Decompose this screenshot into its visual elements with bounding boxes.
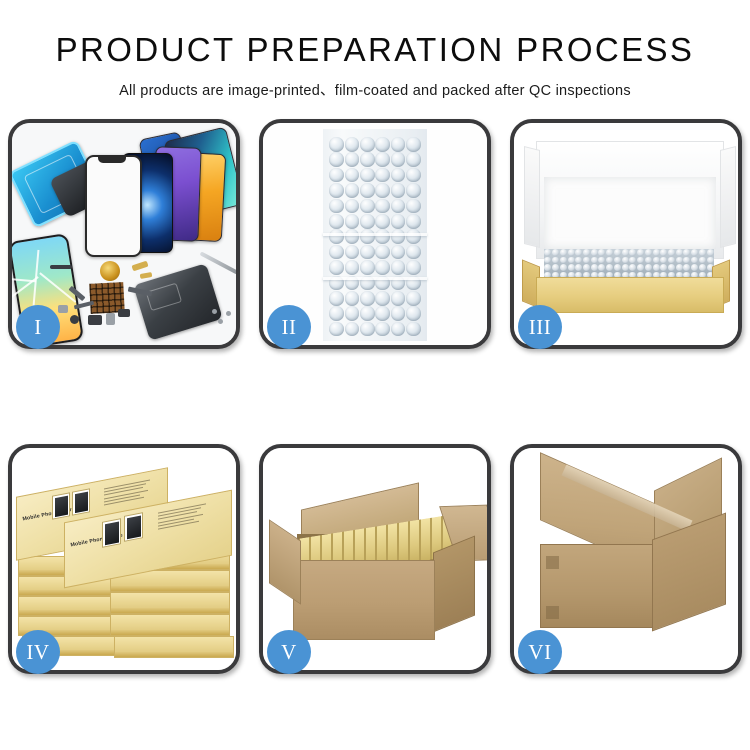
bubble (391, 214, 406, 229)
step-badge-1: I (16, 305, 60, 349)
screw-part (212, 309, 217, 314)
bubble (406, 137, 421, 152)
bubble (544, 249, 551, 256)
bubble (583, 249, 590, 256)
carton-side-wall (433, 535, 475, 632)
bubble (606, 249, 613, 256)
bubble (575, 257, 582, 264)
bubble (391, 229, 406, 244)
bubble (391, 245, 406, 260)
bubble (699, 249, 706, 256)
bubble (683, 257, 690, 264)
bubble (375, 229, 390, 244)
small-part (118, 309, 130, 317)
small-part (50, 265, 72, 269)
bubble (360, 183, 375, 198)
bubble (691, 257, 698, 264)
foam-sheet (544, 177, 716, 249)
bubble (591, 257, 598, 264)
bubble (345, 260, 360, 275)
bubble (406, 322, 421, 337)
bubble (598, 257, 605, 264)
bubble (598, 249, 605, 256)
bubble (568, 249, 575, 256)
bubble (614, 264, 621, 271)
bubble (360, 152, 375, 167)
bubble (560, 249, 567, 256)
bubble (568, 257, 575, 264)
page-header: PRODUCT PREPARATION PROCESS All products… (0, 0, 750, 100)
page-subtitle: All products are image-printed、film-coat… (0, 79, 750, 100)
bubble (329, 199, 344, 214)
box-front-wall (536, 277, 724, 313)
bubble (676, 249, 683, 256)
stacked-box (110, 614, 230, 636)
page-title: PRODUCT PREPARATION PROCESS (0, 33, 750, 68)
small-part (70, 315, 79, 324)
bubble (552, 249, 559, 256)
bubble (329, 152, 344, 167)
bubble (345, 137, 360, 152)
bubble (360, 229, 375, 244)
bubble (406, 199, 421, 214)
bubble (391, 152, 406, 167)
step-badge-3: III (518, 305, 562, 349)
small-part (140, 272, 153, 279)
carton-tab (546, 556, 559, 569)
process-step-2: II (259, 119, 491, 349)
bubble (360, 291, 375, 306)
bubble (375, 291, 390, 306)
bubble (552, 264, 559, 271)
screw-part (218, 319, 223, 324)
bubble (544, 257, 551, 264)
step-badge-4: IV (16, 630, 60, 674)
process-step-grid: I II III (5, 119, 745, 674)
process-step-4: Mobile Phone Spare Parts Mobile Phone Sp… (8, 444, 240, 674)
box-phone-graphic (72, 488, 90, 515)
bubble (329, 229, 344, 244)
bubble (329, 322, 344, 337)
bubble (406, 245, 421, 260)
bubble (360, 260, 375, 275)
bubble (653, 249, 660, 256)
bubble (629, 249, 636, 256)
bubble (560, 264, 567, 271)
bubble (345, 229, 360, 244)
bubble (614, 257, 621, 264)
bubble (360, 322, 375, 337)
bubble (406, 260, 421, 275)
bubble (375, 199, 390, 214)
bubble (375, 306, 390, 321)
bubble (406, 183, 421, 198)
step-badge-5: V (267, 630, 311, 674)
bubble (406, 306, 421, 321)
bubble (622, 257, 629, 264)
small-part (58, 305, 68, 313)
carton-tab (546, 606, 559, 619)
bubble (583, 264, 590, 271)
bubble (329, 214, 344, 229)
bubble (345, 306, 360, 321)
bubble (375, 183, 390, 198)
bubble (568, 264, 575, 271)
bubble (598, 264, 605, 271)
bubble (691, 249, 698, 256)
bubble (360, 245, 375, 260)
charging-coil-part (100, 261, 120, 281)
bubble (375, 152, 390, 167)
step-badge-6: VI (518, 630, 562, 674)
bubble-grid (329, 137, 421, 335)
step-badge-2: II (267, 305, 311, 349)
bubble (645, 249, 652, 256)
bubble (606, 257, 613, 264)
process-step-5: V (259, 444, 491, 674)
bubble (360, 137, 375, 152)
bubble (345, 245, 360, 260)
bubble (406, 291, 421, 306)
bubble (668, 264, 675, 271)
bubble (345, 168, 360, 183)
bubble (622, 264, 629, 271)
bubble (668, 257, 675, 264)
bubble (575, 264, 582, 271)
bubble (637, 249, 644, 256)
bubble (375, 260, 390, 275)
bubble (575, 249, 582, 256)
bubble (360, 199, 375, 214)
bubble (606, 264, 613, 271)
bubble (583, 257, 590, 264)
bubble (683, 249, 690, 256)
bubble (406, 168, 421, 183)
bubble (329, 137, 344, 152)
bubble (360, 214, 375, 229)
bubble (645, 257, 652, 264)
stacked-box (114, 636, 234, 658)
bubble (653, 257, 660, 264)
bubble (660, 257, 667, 264)
bubble (345, 214, 360, 229)
wrapped-contents (544, 249, 714, 279)
bubble (683, 264, 690, 271)
front-glass-panel (85, 155, 142, 257)
wrap-seam (323, 277, 427, 280)
bubble (614, 249, 621, 256)
bubble-wrap-strip (323, 129, 427, 341)
box-phone-graphic (52, 492, 70, 519)
bubble (629, 264, 636, 271)
bubble (676, 264, 683, 271)
process-step-1: I (8, 119, 240, 349)
bubble (360, 306, 375, 321)
bubble (707, 249, 714, 256)
bubble (707, 257, 714, 264)
bubble (329, 291, 344, 306)
bubble (329, 245, 344, 260)
bubble (329, 183, 344, 198)
crack-line (12, 277, 36, 282)
bubble (375, 322, 390, 337)
packed-box (420, 517, 431, 561)
bubble (391, 137, 406, 152)
bubble (691, 264, 698, 271)
bubble (591, 249, 598, 256)
bubble (660, 249, 667, 256)
wrap-seam (323, 233, 427, 236)
bubble (676, 257, 683, 264)
bubble (552, 257, 559, 264)
bubble (645, 264, 652, 271)
bubble (391, 183, 406, 198)
bubble (406, 214, 421, 229)
small-part (106, 313, 115, 325)
bubble (375, 137, 390, 152)
box-phone-graphic (124, 512, 143, 542)
bubble (391, 291, 406, 306)
bubble (391, 199, 406, 214)
bubble (329, 260, 344, 275)
process-step-3: III (510, 119, 742, 349)
bubble (345, 152, 360, 167)
bubble (622, 249, 629, 256)
bubble (699, 257, 706, 264)
bubble (391, 322, 406, 337)
bubble (591, 264, 598, 271)
carton-left-flap (269, 519, 301, 605)
bubble (544, 264, 551, 271)
bubble (560, 257, 567, 264)
small-part (131, 260, 148, 271)
stacked-box (18, 596, 112, 616)
bubble (406, 152, 421, 167)
bubble (391, 260, 406, 275)
stacked-box (110, 592, 230, 614)
bubble (391, 306, 406, 321)
bubble (375, 245, 390, 260)
box-phone-graphic (102, 518, 121, 548)
bubble (406, 229, 421, 244)
carton-front-wall (293, 560, 435, 640)
bubble (653, 264, 660, 271)
bubble (345, 322, 360, 337)
bubble (329, 168, 344, 183)
process-step-6: VI (510, 444, 742, 674)
bubble (360, 168, 375, 183)
bubble (345, 199, 360, 214)
bubble (637, 257, 644, 264)
bubble (375, 168, 390, 183)
bubble (660, 264, 667, 271)
bubble (637, 264, 644, 271)
bubble (391, 168, 406, 183)
screw-part (226, 311, 231, 316)
small-part (88, 315, 102, 325)
bubble (329, 306, 344, 321)
bubble (375, 214, 390, 229)
bubble (668, 249, 675, 256)
bubble (345, 183, 360, 198)
bubble (629, 257, 636, 264)
packed-box (398, 521, 409, 565)
packed-box (409, 519, 420, 563)
bubble (345, 291, 360, 306)
bubble (699, 264, 706, 271)
